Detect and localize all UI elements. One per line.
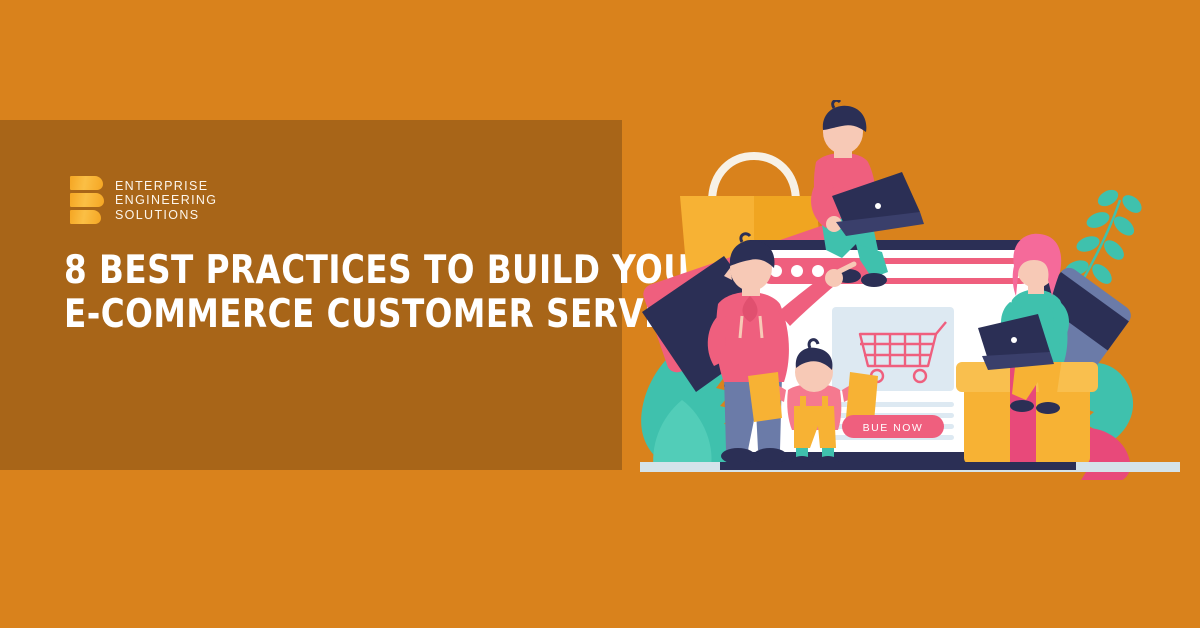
laptop-base-line [720, 462, 1076, 470]
page-title-line-2: E-COMMERCE CUSTOMER SERVICE [64, 293, 566, 337]
browser-dot-3 [812, 265, 824, 277]
cta-button[interactable]: BUE NOW [842, 415, 944, 438]
ecommerce-shopping-illustration: BUE NOW [620, 100, 1200, 480]
brand-name-line-2: ENGINEERING [115, 194, 217, 208]
brand-name: ENTERPRISE ENGINEERING SOLUTIONS [115, 180, 217, 223]
brand-name-line-3: SOLUTIONS [115, 209, 217, 223]
cta-button-label: BUE NOW [863, 422, 924, 434]
browser-url-field [878, 264, 1026, 278]
brand-name-line-1: ENTERPRISE [115, 180, 217, 194]
banner-canvas: ENTERPRISE ENGINEERING SOLUTIONS 8 BEST … [0, 0, 1200, 628]
page-title-line-1: 8 BEST PRACTICES TO BUILD YOUR [64, 249, 566, 293]
browser-dot-2 [791, 265, 803, 277]
brand-logo: ENTERPRISE ENGINEERING SOLUTIONS [70, 176, 217, 226]
stacked-waves-e-logo-icon [70, 176, 104, 226]
page-title: 8 BEST PRACTICES TO BUILD YOUR E-COMMERC… [64, 249, 604, 337]
